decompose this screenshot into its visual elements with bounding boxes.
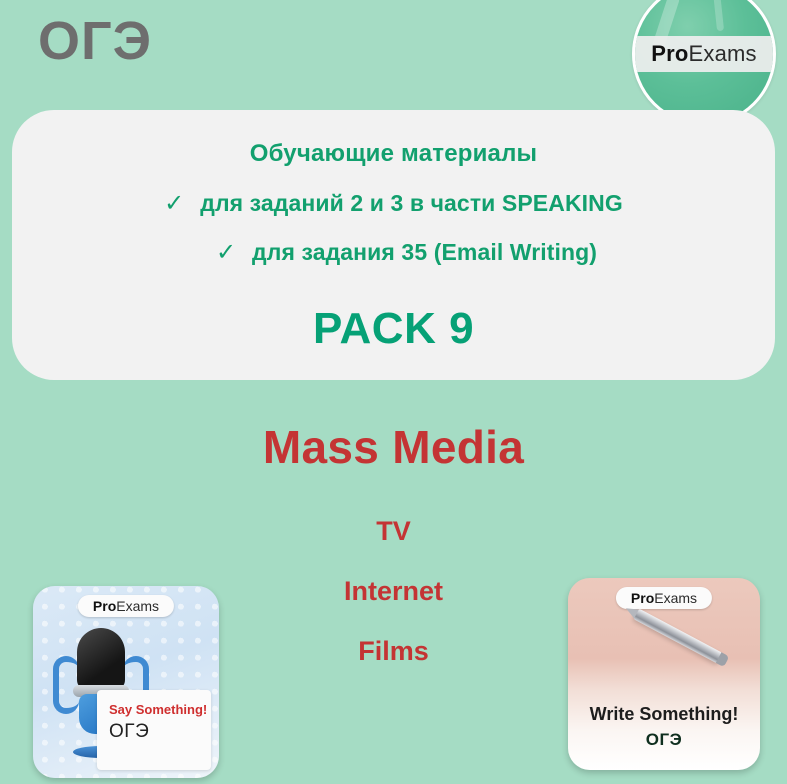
bullet-row-speaking: ✓ для заданий 2 и 3 в части SPEAKING: [12, 190, 775, 217]
microphone-head: [77, 628, 125, 690]
card-heading: Обучающие материалы: [12, 140, 775, 168]
bullet-row-email-writing: ✓ для задания 35 (Email Writing): [12, 239, 775, 266]
speaking-subcaption: ОГЭ: [109, 721, 211, 743]
topic-item-tv: TV: [0, 516, 787, 547]
speaking-caption: Say Something!: [109, 702, 211, 717]
topic-title: Mass Media: [0, 420, 787, 474]
thumbnail-brand-exams: Exams: [654, 590, 697, 606]
check-icon: ✓: [164, 192, 184, 216]
pack-title: PACK 9: [12, 304, 775, 354]
brand-logo-badge: ProExams: [632, 0, 776, 126]
logo-sheen-highlight-secondary: [713, 0, 724, 31]
thumbnail-brand-exams: Exams: [116, 598, 159, 614]
logo-wordmark: ProExams: [635, 36, 773, 72]
info-card: Обучающие материалы ✓ для заданий 2 и 3 …: [12, 110, 775, 380]
page-title: ОГЭ: [38, 14, 152, 68]
thumbnail-card-writing[interactable]: ProExams Write Something! ОГЭ: [568, 578, 760, 770]
pen-icon: [633, 608, 723, 664]
thumbnail-brand-pro: Pro: [93, 598, 116, 614]
check-icon: ✓: [216, 241, 236, 265]
speaking-caption-panel: Say Something! ОГЭ: [97, 690, 211, 770]
thumbnail-card-speaking[interactable]: ProExams Say Something! ОГЭ: [33, 586, 219, 778]
logo-wordmark-exams: Exams: [689, 41, 757, 66]
thumbnail-brand-pro: Pro: [631, 590, 654, 606]
writing-caption: Write Something!: [568, 704, 760, 725]
bullet-text-speaking: для заданий 2 и 3 в части SPEAKING: [200, 190, 623, 217]
bullet-text-email-writing: для задания 35 (Email Writing): [252, 239, 597, 266]
writing-subcaption: ОГЭ: [568, 730, 760, 750]
thumbnail-brand-pill: ProExams: [78, 595, 174, 617]
logo-wordmark-pro: Pro: [651, 41, 688, 66]
